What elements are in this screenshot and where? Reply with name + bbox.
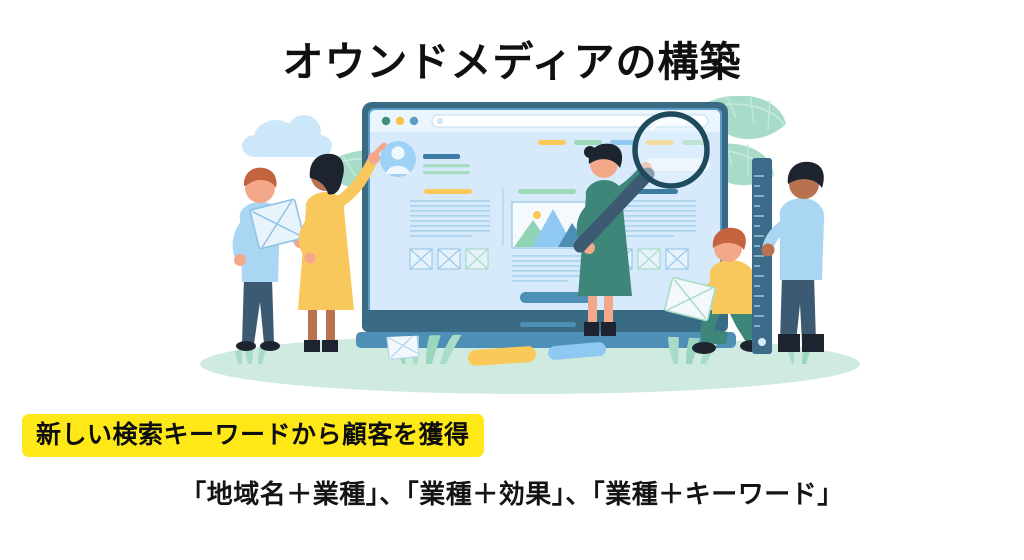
hero-illustration [180, 96, 880, 396]
traffic-dot-blue [410, 117, 418, 125]
traffic-dot-yellow [396, 117, 404, 125]
broken-image-placeholder-group-left [410, 249, 488, 269]
cloud-icon [242, 115, 332, 157]
slide-canvas: オウンドメディアの構築 [0, 0, 1024, 560]
page-title: オウンドメディアの構築 [0, 38, 1024, 87]
sub-caption: 「地域名＋業種」、「業種＋効果」、「業種＋キーワード」 [0, 474, 1024, 511]
highlight-caption: 新しい検索キーワードから顧客を獲得 [22, 414, 484, 457]
traffic-dot-green [382, 117, 390, 125]
character-man-with-image-card [233, 168, 306, 351]
character-man-with-ruler [752, 158, 824, 354]
